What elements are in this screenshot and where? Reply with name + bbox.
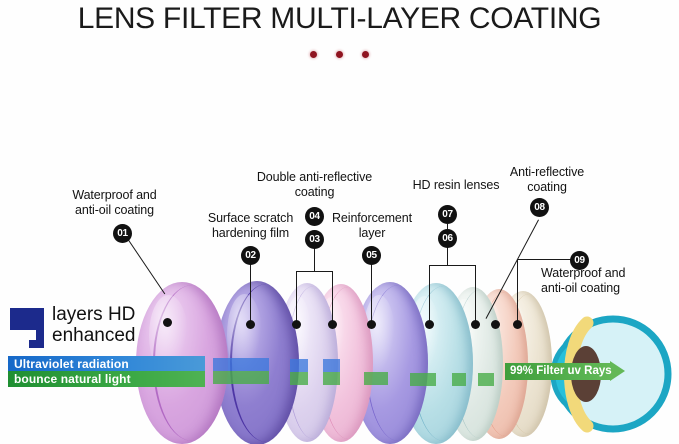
- badge-08[interactable]: 08: [530, 198, 549, 217]
- leader-line-02: [250, 262, 251, 324]
- leader-dot-01: [163, 318, 172, 327]
- leader-dot-08: [491, 320, 500, 329]
- callout-label-04: Double anti-reflective coating: [243, 170, 386, 200]
- divider-dot: [310, 51, 317, 58]
- arrow-tip-icon: [610, 361, 625, 381]
- nine-glyph-icon: [8, 306, 46, 350]
- badge-03[interactable]: 03: [305, 230, 324, 249]
- uv-filter-label: 99% Filter uv Rays: [510, 363, 612, 380]
- badge-06[interactable]: 06: [438, 229, 457, 248]
- light-beam-segment: [410, 373, 436, 386]
- leader-line-01: [124, 234, 165, 294]
- uv-beam-segment: [213, 358, 269, 371]
- uv-beam-segment: [290, 359, 308, 372]
- badge-05[interactable]: 05: [362, 246, 381, 265]
- light-beam-segment: [452, 373, 466, 386]
- callout-label-02: Surface scratch hardening film: [188, 211, 313, 241]
- badge-01[interactable]: 01: [113, 224, 132, 243]
- leader-line-03-left: [296, 271, 297, 323]
- leader-line-06-left: [429, 265, 430, 323]
- brand-text: layers HD enhanced: [52, 304, 135, 346]
- badge-09[interactable]: 09: [570, 251, 589, 270]
- callout-label-07: HD resin lenses: [404, 178, 508, 193]
- light-beam-segment: [213, 371, 269, 384]
- light-beam-segment: [364, 372, 388, 385]
- leader-dot-03: [292, 320, 301, 329]
- leader-dot-02: [246, 320, 255, 329]
- badge-04[interactable]: 04: [305, 207, 324, 226]
- leader-bracket-06: [429, 265, 476, 266]
- divider-dot: [362, 51, 369, 58]
- page-title: LENS FILTER MULTI-LAYER COATING: [0, 2, 679, 36]
- leader-dot-05: [367, 320, 376, 329]
- divider-dots: [0, 44, 679, 63]
- badge-07[interactable]: 07: [438, 205, 457, 224]
- callout-label-01: Waterproof and anti-oil coating: [52, 188, 177, 218]
- leader-dot-07: [471, 320, 480, 329]
- uv-radiation-bar: Ultraviolet radiation: [8, 356, 205, 372]
- leader-line-06-center: [447, 248, 448, 266]
- leader-line-04-stem: [314, 248, 315, 272]
- light-beam-segment: [478, 373, 494, 386]
- brand-line-1: layers HD: [52, 304, 135, 325]
- infographic-canvas: LENS FILTER MULTI-LAYER COATING: [0, 0, 679, 444]
- light-beam-segment: [323, 372, 340, 385]
- leader-dot-09: [513, 320, 522, 329]
- callout-label-05: Reinforcement layer: [322, 211, 422, 241]
- natural-light-bar: bounce natural light: [8, 371, 205, 387]
- brand-line-2: enhanced: [52, 325, 135, 346]
- leader-dot-06: [425, 320, 434, 329]
- badge-02[interactable]: 02: [241, 246, 260, 265]
- light-beam-segment: [290, 372, 308, 385]
- callout-label-09: Waterproof and anti-oil coating: [541, 266, 675, 296]
- leader-line-09-drop: [517, 259, 518, 323]
- leader-dot-04: [328, 320, 337, 329]
- uv-beam-segment: [323, 359, 340, 372]
- divider-dot: [336, 51, 343, 58]
- leader-line-06-right: [475, 265, 476, 323]
- leader-bracket-03: [296, 271, 333, 272]
- leader-line-03-right: [332, 271, 333, 323]
- callout-label-08: Anti-reflective coating: [494, 165, 600, 195]
